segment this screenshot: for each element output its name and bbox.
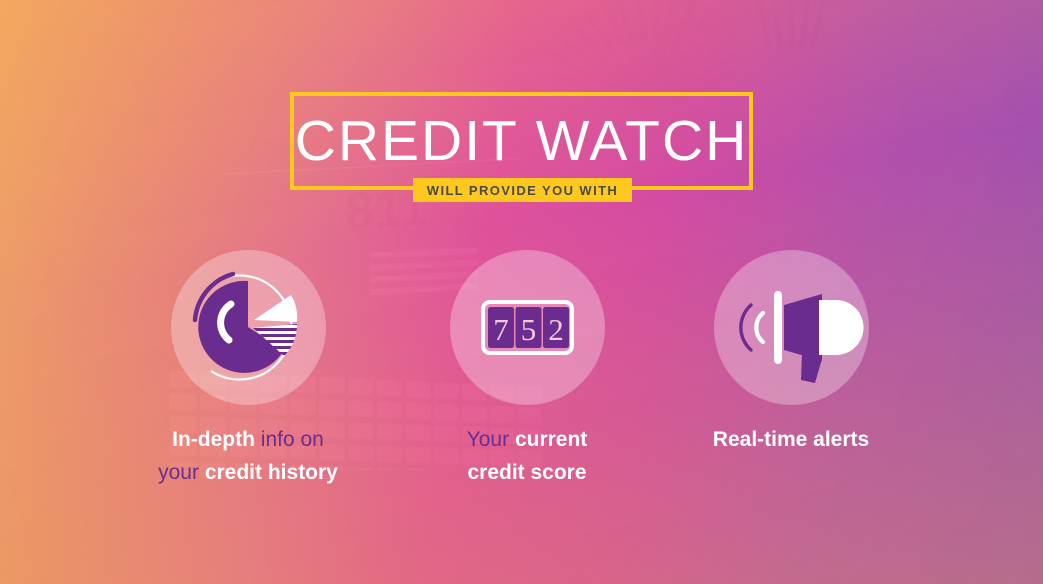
caption-light-1: Your (467, 428, 509, 451)
feature-item-credit-score: 7 5 2 Your current credit score (387, 250, 667, 489)
score-digit-1: 7 (493, 312, 509, 347)
caption-bold-1: Real-time alerts (713, 428, 869, 451)
feature-caption: In-depth info on your credit history (108, 423, 388, 489)
feature-list: In-depth info on your credit history (0, 250, 1043, 480)
feature-caption: Your current credit score (387, 423, 667, 489)
feature-item-credit-history: In-depth info on your credit history (108, 250, 388, 489)
caption-bold-1: current (515, 428, 587, 451)
caption-line-2: credit score (387, 456, 667, 489)
feature-icon-circle (714, 250, 869, 405)
feature-item-alerts: Real-time alerts (651, 250, 931, 456)
subtitle-banner: WILL PROVIDE YOU WITH (413, 178, 632, 202)
page-title: CREDIT WATCH (290, 92, 753, 190)
score-digit-3: 2 (548, 312, 564, 347)
caption-line-1: Real-time alerts (651, 423, 931, 456)
caption-bold-1: In-depth (172, 428, 255, 451)
score-digit-2: 5 (520, 312, 536, 347)
feature-icon-circle: 7 5 2 (450, 250, 605, 405)
caption-line-2: your credit history (108, 456, 388, 489)
caption-line-1: Your current (387, 423, 667, 456)
pie-chart-icon (171, 250, 326, 405)
credit-score-digits-icon: 7 5 2 (450, 250, 605, 405)
subtitle-text: WILL PROVIDE YOU WITH (427, 183, 618, 198)
feature-caption: Real-time alerts (651, 423, 931, 456)
caption-line-1: In-depth info on (108, 423, 388, 456)
caption-light-2: your (158, 461, 199, 484)
megaphone-icon (714, 250, 869, 405)
caption-bold-2: credit score (467, 461, 586, 484)
caption-light-1: info on (261, 428, 324, 451)
slide-stage: Credit Score 811 Excellent Privacy Polic… (0, 0, 1043, 584)
feature-icon-circle (171, 250, 326, 405)
caption-bold-2: credit history (205, 461, 338, 484)
